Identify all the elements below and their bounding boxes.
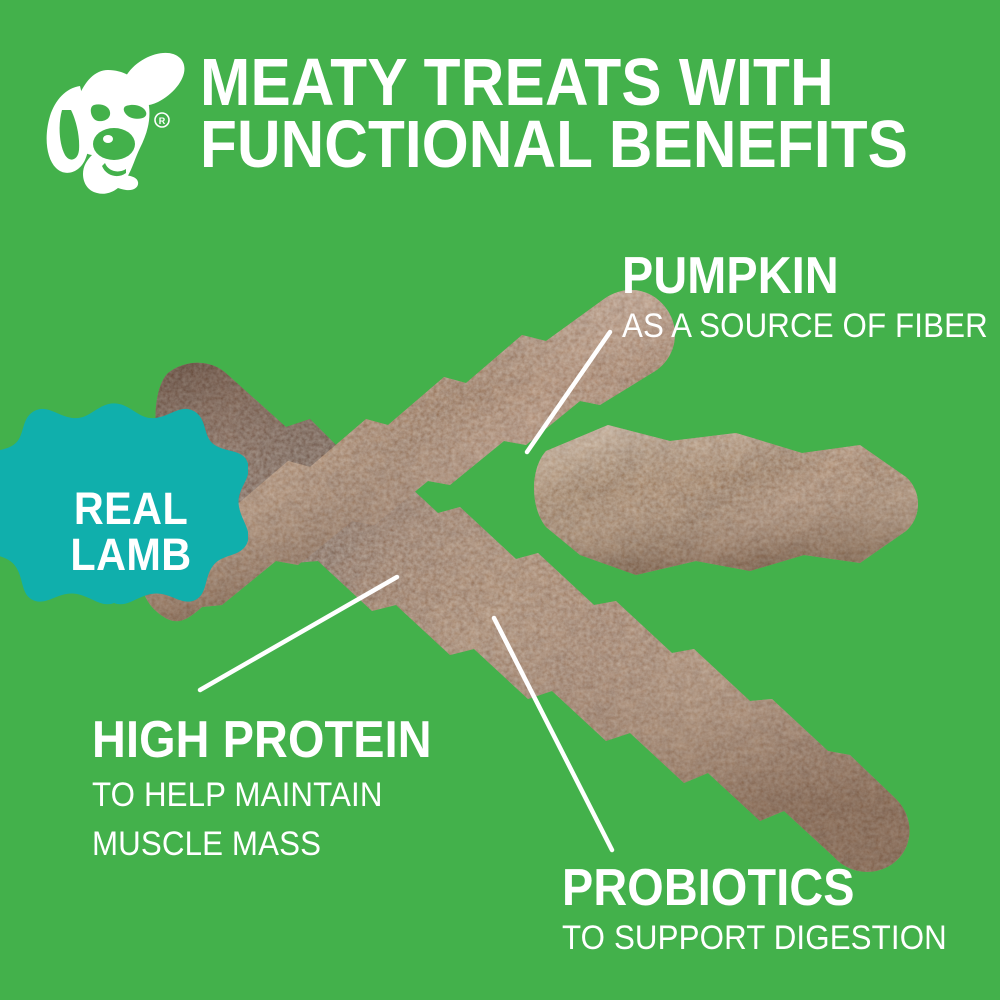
callout-pumpkin-title: PUMPKIN	[622, 250, 980, 302]
real-lamb-badge: REAL LAMB	[0, 398, 248, 666]
callout-pumpkin: PUMPKIN AS A SOURCE OF FIBER	[622, 250, 1000, 345]
callout-high-protein-subtitle-line-2: MUSCLE MASS	[92, 824, 439, 864]
brand-logo: R	[22, 48, 192, 208]
callout-probiotics: PROBIOTICS TO SUPPORT DIGESTION	[562, 862, 980, 957]
headline-line-2: FUNCTIONAL BENEFITS	[200, 114, 911, 176]
headline-line-1: MEATY TREATS WITH	[200, 52, 911, 114]
header: R MEATY TREATS WITH FUNCTIONAL BENEFITS	[0, 0, 1000, 210]
callout-pumpkin-subtitle: AS A SOURCE OF FIBER	[622, 308, 988, 345]
callout-probiotics-subtitle: TO SUPPORT DIGESTION	[562, 920, 947, 957]
badge-line-1: REAL	[23, 486, 238, 532]
callout-high-protein-subtitle-line-1: TO HELP MAINTAIN	[92, 775, 439, 815]
product-marketing-image: REAL LAMB	[0, 0, 1000, 1000]
headline: MEATY TREATS WITH FUNCTIONAL BENEFITS	[200, 52, 990, 177]
svg-text:R: R	[159, 116, 166, 126]
dog-head-icon: R	[22, 48, 192, 208]
callout-high-protein: HIGH PROTEIN TO HELP MAINTAIN MUSCLE MAS…	[92, 714, 469, 864]
callout-high-protein-title: HIGH PROTEIN	[92, 714, 432, 766]
real-lamb-badge-label: REAL LAMB	[0, 486, 248, 578]
registered-trademark-icon: R	[155, 113, 169, 127]
callout-probiotics-title: PROBIOTICS	[562, 862, 939, 914]
badge-line-2: LAMB	[23, 532, 238, 578]
treat-strip-right-end	[534, 425, 918, 575]
